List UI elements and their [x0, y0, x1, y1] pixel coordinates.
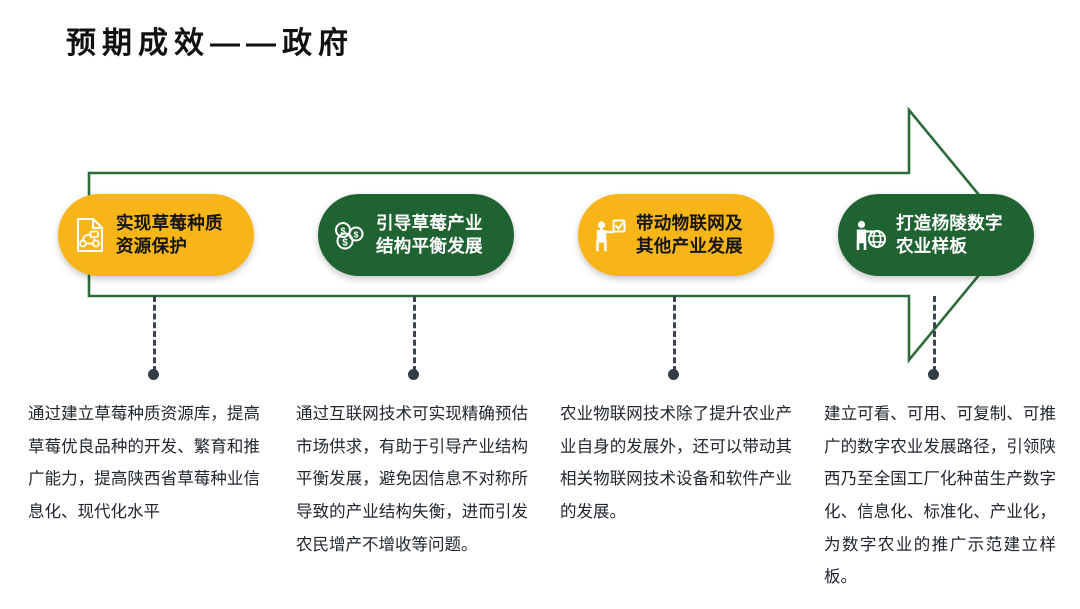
coins-money-icon: $ $ $ [332, 213, 368, 257]
connector-stem-2 [413, 296, 416, 372]
svg-text:$: $ [354, 230, 359, 240]
step-description-4: 建立可看、可用、可复制、可推广的数字农业发展路径，引领陕西乃至全国工厂化种苗生产… [824, 398, 1056, 594]
step-pill-label-4: 打造杨陵数字 农业样板 [896, 212, 1003, 258]
step-pill-2[interactable]: $ $ $ 引导草莓产业 结构平衡发展 [318, 194, 514, 276]
step-description-2: 通过互联网技术可实现精确预估市场供求，有助于引导产业结构平衡发展，避免因信息不对… [296, 398, 528, 561]
step-pill-label-2: 引导草莓产业 结构平衡发展 [376, 212, 483, 258]
person-checklist-icon [592, 213, 628, 257]
step-description-3: 农业物联网技术除了提升农业产业自身的发展外，还可以带动其相关物联网技术设备和软件… [560, 398, 792, 529]
step-pill-label-1: 实现草莓种质 资源保护 [116, 212, 223, 258]
svg-text:$: $ [342, 237, 348, 248]
document-flowchart-icon [72, 213, 108, 257]
connector-stem-4 [933, 296, 936, 372]
step-pill-4[interactable]: 打造杨陵数字 农业样板 [838, 194, 1034, 276]
connector-dot-3 [668, 369, 679, 380]
step-pill-label-3: 带动物联网及 其他产业发展 [636, 212, 743, 258]
connector-stem-3 [673, 296, 676, 372]
step-pill-3[interactable]: 带动物联网及 其他产业发展 [578, 194, 774, 276]
connector-dot-2 [408, 369, 419, 380]
connector-dot-4 [928, 369, 939, 380]
connector-dot-1 [148, 369, 159, 380]
connector-stem-1 [153, 296, 156, 372]
person-globe-icon [852, 213, 888, 257]
step-description-1: 通过建立草莓种质资源库，提高草莓优良品种的开发、繁育和推广能力，提高陕西省草莓种… [28, 398, 260, 529]
step-pill-1[interactable]: 实现草莓种质 资源保护 [58, 194, 254, 276]
